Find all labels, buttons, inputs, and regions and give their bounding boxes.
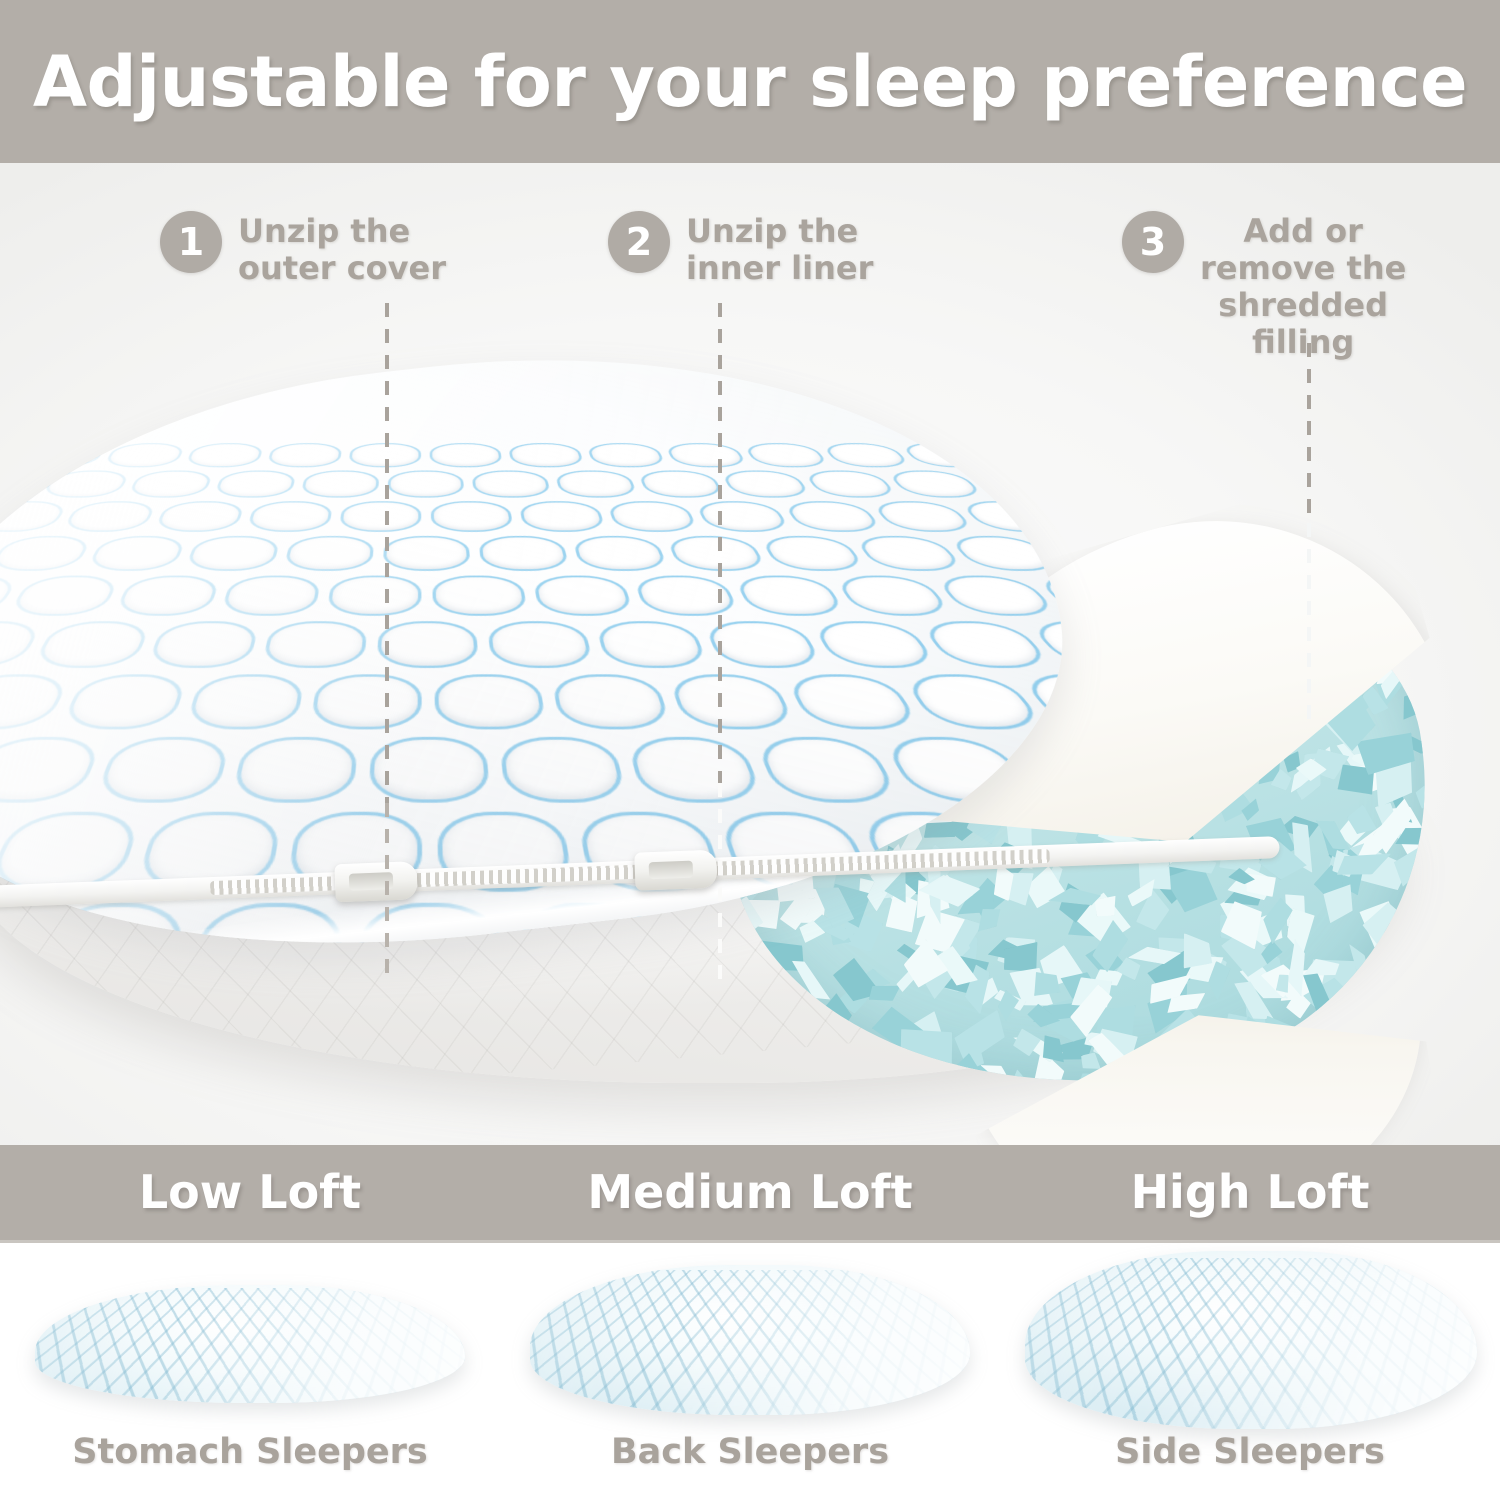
foam-chip	[1441, 574, 1458, 617]
quilt-cell	[380, 623, 475, 665]
leader-line-step-2	[718, 303, 722, 783]
leader-line-step-3-lower	[1307, 523, 1311, 723]
quilt-cell	[64, 676, 184, 726]
foam-chip	[1454, 677, 1458, 705]
step-callout-1: 1 Unzip the outer cover	[160, 211, 446, 287]
quilt-cell	[490, 623, 590, 665]
zipper-pull-outer-cover	[334, 861, 417, 902]
quilt-cell	[188, 537, 278, 569]
sleeper-label-side: Side Sleepers	[1000, 1432, 1500, 1472]
quilt-cell	[0, 623, 40, 665]
step-label-2: Unzip the inner liner	[686, 211, 873, 287]
quilt-cell	[150, 623, 256, 665]
foam-chip	[1447, 827, 1458, 866]
quilt-cell	[762, 537, 863, 569]
foam-chip	[1432, 742, 1458, 808]
pillow-thumbnail-high	[1025, 1251, 1477, 1429]
quilt-cell	[35, 623, 148, 665]
quilt-cell	[330, 577, 418, 613]
quilt-cell	[961, 502, 1066, 530]
quilt-cell	[0, 537, 90, 569]
sleeper-cell-side: Side Sleepers	[1000, 1243, 1500, 1490]
foam-chip	[1450, 691, 1458, 722]
step-number-badge-2: 2	[608, 211, 670, 273]
step-number-badge-1: 1	[160, 211, 222, 273]
quilt-cell	[0, 471, 45, 496]
quilt-cell	[249, 502, 330, 530]
foam-chip	[876, 1111, 911, 1123]
quilt-cell	[0, 676, 67, 726]
quilt-cell	[521, 502, 603, 530]
quilt-cell	[98, 739, 226, 799]
quilt-cell	[640, 471, 723, 496]
quilt-cell	[873, 502, 973, 530]
quilt-cell	[1049, 502, 1089, 530]
quilt-cell	[823, 444, 909, 466]
sleeper-label-stomach: Stomach Sleepers	[0, 1432, 500, 1472]
quilt-cell	[372, 739, 485, 799]
quilt-cell	[187, 444, 262, 466]
step-label-1: Unzip the outer cover	[238, 211, 446, 287]
step-callouts: 1 Unzip the outer cover 2 Unzip the inne…	[0, 163, 1500, 373]
quilt-cell	[189, 676, 301, 726]
quilt-cell	[706, 623, 820, 665]
quilt-cell	[856, 537, 962, 569]
quilt-cell	[510, 444, 582, 466]
quilt-cell	[697, 502, 788, 530]
sleeper-cell-back: Back Sleepers	[500, 1243, 1000, 1490]
quilt-cell	[474, 471, 548, 496]
leader-line-step-1-lower	[385, 803, 389, 983]
pillow-illustration	[0, 283, 1480, 1113]
quilt-cell	[223, 577, 317, 613]
step-callout-3: 3 Add or remove the shredded filling	[1122, 211, 1406, 361]
quilt-cell	[64, 502, 154, 530]
quilt-cell	[129, 471, 211, 496]
quilt-cell	[788, 676, 918, 726]
quilt-cell	[575, 537, 665, 569]
foam-chip	[901, 1106, 938, 1124]
quilt-cell	[342, 502, 419, 530]
quilt-cell	[557, 471, 636, 496]
quilt-cell	[117, 577, 217, 613]
foam-chip	[1431, 681, 1458, 738]
pillow-thumbnail-low	[35, 1285, 465, 1403]
pillow-thumbnail-wrap-high	[1025, 1243, 1475, 1429]
quilt-cell	[630, 739, 760, 799]
quilt-cell	[503, 739, 623, 799]
sleeper-cell-stomach: Stomach Sleepers	[0, 1243, 500, 1490]
quilt-cell	[667, 444, 746, 466]
quilt-cell	[23, 444, 105, 466]
quilt-cell	[216, 471, 294, 496]
step-callout-2: 2 Unzip the inner liner	[608, 211, 873, 287]
quilt-cell	[536, 577, 631, 613]
foam-chip	[1455, 972, 1458, 1006]
foam-chip	[847, 1116, 890, 1124]
foam-chip	[1011, 1028, 1042, 1058]
quilt-cell	[837, 577, 950, 613]
leader-line-step-1	[385, 303, 389, 803]
quilt-cell	[89, 537, 184, 569]
quilt-cell	[588, 444, 663, 466]
quilt-cell	[481, 537, 566, 569]
quilt-cell	[433, 502, 510, 530]
pillow-thumbnail-wrap-low	[25, 1243, 475, 1403]
foam-chip	[918, 1092, 968, 1123]
foam-chip	[1422, 576, 1458, 610]
foam-chip	[1431, 815, 1458, 855]
pillow-thumbnail-medium	[530, 1265, 970, 1415]
quilt-cell	[287, 537, 371, 569]
foam-chip	[1450, 1056, 1458, 1112]
quilt-cell	[905, 676, 1043, 726]
quilt-cell	[937, 577, 1056, 613]
loft-label-high: High Loft	[1000, 1165, 1500, 1219]
product-photo-stage: 1 Unzip the outer cover 2 Unzip the inne…	[0, 163, 1500, 1145]
foam-chip	[893, 1111, 936, 1124]
foam-chip	[1410, 765, 1458, 817]
quilt-cell	[386, 537, 468, 569]
quilt-cell	[269, 444, 340, 466]
quilt-cell	[435, 577, 524, 613]
quilt-cell	[438, 676, 543, 726]
sleeper-type-row: Stomach Sleepers Back Sleepers Side Slee…	[0, 1243, 1500, 1490]
quilt-cell	[235, 739, 353, 799]
zipper-pull-inner-liner	[634, 850, 717, 891]
quilt-cell	[265, 623, 364, 665]
quilt-cell	[922, 623, 1050, 665]
foam-chip	[710, 1092, 756, 1124]
quilt-cell	[669, 537, 765, 569]
quilt-cell	[745, 444, 828, 466]
foam-chip	[1439, 810, 1458, 847]
foam-chip	[744, 929, 808, 983]
quilt-cell	[885, 739, 1035, 799]
page-title: Adjustable for your sleep preference	[33, 41, 1467, 123]
pillow-thumbnail-wrap-medium	[525, 1243, 975, 1415]
loft-label-low: Low Loft	[0, 1165, 500, 1219]
quilt-cell	[598, 623, 705, 665]
foam-chip	[1412, 542, 1450, 555]
quilt-cell	[0, 502, 66, 530]
foam-chip	[922, 1108, 953, 1123]
foam-chip	[1452, 1036, 1458, 1081]
quilt-cell	[0, 444, 27, 466]
quilt-cell	[901, 444, 991, 466]
quilt-cell	[432, 444, 500, 466]
quilt-cell	[814, 623, 935, 665]
quilt-cell	[722, 471, 809, 496]
loft-label-band: Low Loft Medium Loft High Loft	[0, 1145, 1500, 1243]
quilt-cell	[980, 444, 1074, 466]
quilt-cell	[390, 471, 462, 496]
quilt-cell	[609, 502, 695, 530]
foam-chip	[1391, 542, 1443, 553]
foam-chip	[1435, 909, 1458, 953]
quilt-cell	[888, 471, 983, 496]
loft-label-medium: Medium Loft	[500, 1165, 1000, 1219]
quilt-cell	[314, 676, 418, 726]
foam-chip	[1440, 858, 1458, 917]
header-band: Adjustable for your sleep preference	[0, 0, 1500, 163]
foam-chip	[1443, 741, 1458, 774]
quilt-cell	[805, 471, 896, 496]
sleeper-label-back: Back Sleepers	[500, 1432, 1000, 1472]
quilt-cell	[0, 739, 99, 799]
foam-chip	[1419, 571, 1458, 610]
quilt-cell	[555, 676, 668, 726]
quilt-cell	[303, 471, 377, 496]
foam-chip	[1398, 542, 1452, 564]
quilt-cell	[1054, 471, 1089, 496]
foam-chip	[1434, 576, 1458, 613]
quilt-cell	[105, 444, 184, 466]
quilt-cell	[672, 676, 793, 726]
quilt-cell	[785, 502, 881, 530]
foam-chip	[1427, 688, 1458, 717]
quilt-cell	[156, 502, 242, 530]
foam-chip	[1409, 542, 1454, 579]
step-number-badge-3: 3	[1122, 211, 1184, 273]
leader-line-step-2-lower	[718, 783, 722, 983]
infographic-page: Adjustable for your sleep preference	[0, 0, 1500, 1490]
step-label-3: Add or remove the shredded filling	[1200, 211, 1406, 361]
quilt-cell	[736, 577, 843, 613]
quilt-cell	[950, 537, 1062, 569]
foam-chip	[1429, 680, 1458, 720]
quilt-cell	[42, 471, 128, 496]
quilt-cell	[758, 739, 898, 799]
quilt-cell	[0, 577, 16, 613]
quilt-cell	[971, 471, 1070, 496]
quilt-cell	[11, 577, 117, 613]
